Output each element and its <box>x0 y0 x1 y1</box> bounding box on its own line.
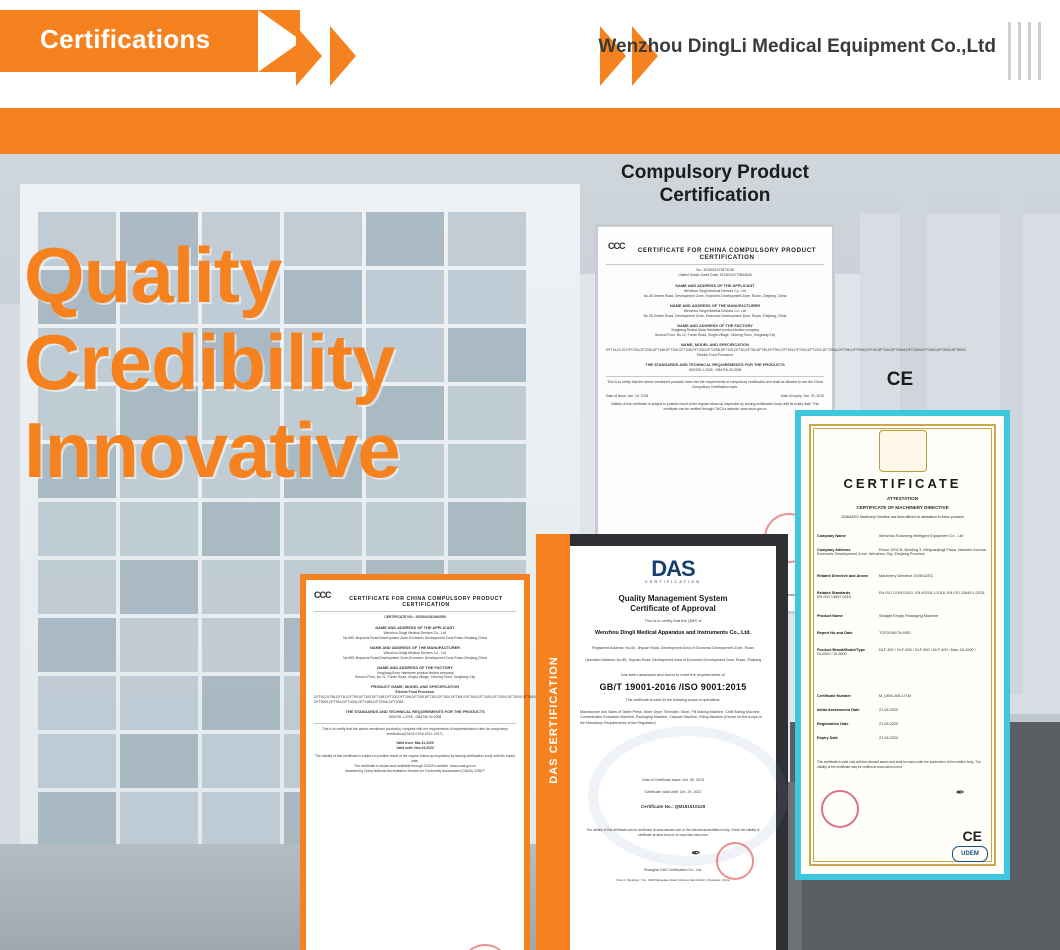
ce-mark-icon: CE <box>963 828 982 844</box>
valid-until-3c: Valid until: Nov.24,2022 <box>314 746 516 751</box>
headline: Quality Credibility Innovative <box>24 232 544 494</box>
watermark-decoration <box>588 726 788 866</box>
page-header: Certifications Wenzhou DingLi Medical Eq… <box>0 0 1060 110</box>
ce-row-directive: Related Directive and AnnexMachinery Dir… <box>817 574 988 578</box>
udem-logo-icon: UDEM <box>952 846 988 862</box>
heading-product-3c: PRODUCT NAME, MODEL AND SPECIFICATION <box>371 684 459 689</box>
content-stage: Quality Credibility Innovative Compulsor… <box>0 154 1060 950</box>
ce-row-initial-assessment: Initial Assessment Date21.06.2020 <box>817 708 988 712</box>
caption-line-1: Compulsory Product <box>560 162 870 185</box>
ce-footnote: This certificate is valid only with the … <box>817 760 988 770</box>
das-address-1: Registered Address: No.85, Jinyuan Road,… <box>580 646 766 651</box>
ce-row-company-address: Company AddressRoom 1002-B, Building 3, … <box>817 548 988 556</box>
certificate-title-3c: CERTIFICATE FOR CHINA COMPULSORY PRODUCT… <box>314 596 516 608</box>
das-spine-label: DAS CERTIFICATION <box>548 650 560 790</box>
header-orange-bar <box>0 108 1060 154</box>
heading-manufacturer-3c: NAME AND ADDRESS OF THE MANUFACTURER <box>370 645 460 650</box>
das-title-line-1: Quality Management System <box>570 594 776 604</box>
heading-applicant-3c: NAME AND ADDRESS OF THE APPLICANT <box>375 625 454 630</box>
ce-crest-icon <box>879 430 927 472</box>
ccc-mark-icon-3c: CCC <box>314 590 340 606</box>
product-name: Electric Food Processor <box>606 353 824 358</box>
heading-factory: NAME AND ADDRESS OF THE FACTORY <box>677 323 753 328</box>
header-bars-icon <box>1006 22 1050 80</box>
das-subtitle: This is to certify that the QMS of <box>570 618 776 623</box>
product-models-3c: DFT50,DLT56,DFT60,DFT99,DFT100,DFT168,DF… <box>314 695 516 705</box>
expiry-date: Date of expiry: Jan. 20, 2019 <box>781 394 824 399</box>
das-scope-intro: This certificate is valid for the follow… <box>580 698 766 703</box>
ce-row-model: Product Brand/Model/TypeDLF-300 / DLF-40… <box>817 648 988 656</box>
caption-ce: CE <box>830 369 970 392</box>
header-slash-2 <box>330 26 356 86</box>
social-credit-code: Unified Social Credit Code: 913301107738… <box>606 273 824 278</box>
accreditation-note-3c: Awarded by China National Accreditation … <box>314 769 516 774</box>
certificate-title: CERTIFICATE FOR CHINA COMPULSORY PRODUCT… <box>606 247 824 261</box>
caption-compulsory-product-certification: Compulsory Product Certification <box>560 162 870 208</box>
heading-standards-3c: THE STANDARDS AND TECHNICAL REQUIREMENTS… <box>345 709 484 714</box>
ce-row-company-name: Company NameWenzhou Ruisheng Intelligent… <box>817 534 988 538</box>
caption-line-2: Certification <box>560 185 870 208</box>
certificate-card-ce[interactable]: CERTIFICATE ATTESTATION CERTIFICATE OF M… <box>795 410 1010 880</box>
ce-signature: ✒ <box>955 786 964 799</box>
certificate-number-3c: CERTIFICATE NO.: 2020041012062559 <box>314 615 516 620</box>
red-seal-icon-3c <box>460 944 510 950</box>
ccc-mark-icon: CCC <box>608 241 634 257</box>
das-document: DAS CERTIFICATION Quality Management Sys… <box>570 546 776 950</box>
das-scope: Manufacture and Sales of Tablet Press, M… <box>580 710 766 726</box>
ce-row-expiry-date: Expiry Date21.06.2024 <box>817 736 988 740</box>
headline-line-2: Credibility <box>24 319 544 406</box>
headline-line-1: Quality <box>24 232 544 319</box>
certificate-card-3c[interactable]: CCC CERTIFICATE FOR CHINA COMPULSORY PRO… <box>300 574 530 950</box>
statement: This is to certify that the above mentio… <box>606 380 824 390</box>
ce-row-product-name: Product NameStraight Empty Packaging Mac… <box>817 614 988 618</box>
heading-standards: THE STANDARDS AND TECHNICAL REQUIREMENTS… <box>645 362 784 367</box>
certificate-card-iso[interactable]: DAS CERTIFICATION DAS CERTIFICATION Qual… <box>536 534 788 950</box>
ce-row-standards: Related StandardsEN ISO 12100:2010, EN 6… <box>817 591 988 599</box>
das-title: Quality Management System Certificate of… <box>570 594 776 614</box>
standards-3c: GB4706.1-2005 ; GB4706.30-2008 <box>314 715 516 720</box>
das-certificate-number: Certificate No.: QM181910129 <box>580 804 766 811</box>
ce-row-certificate-number: Certificate NumberM_DEM-206-171M <box>817 694 988 698</box>
headline-line-3: Innovative <box>24 407 544 494</box>
standards: GB4706.1-2005 , GB4706.30-2008 <box>606 368 824 373</box>
statement-3c: This is to certify that the above-mentio… <box>314 727 516 737</box>
das-title-line-2: Certificate of Approval <box>570 604 776 614</box>
validity-note: Validity of this certificate is subject … <box>606 402 824 412</box>
das-signature: ✒ <box>690 846 700 860</box>
ce-subtitle-note: 2006/42/EC Machinery Directive has been … <box>801 515 1004 520</box>
das-footnote: The validity of this certificate can be … <box>580 828 766 838</box>
header-slash-1 <box>296 26 322 86</box>
das-spine: DAS CERTIFICATION <box>536 534 570 950</box>
das-red-seal-icon <box>716 842 754 880</box>
ce-row-report-no: Report No and DateTCF2006179-MSD <box>817 631 988 635</box>
manufacturer-address: No.35 Jinwen Road, Development Zone, Eco… <box>606 314 824 319</box>
factory-address: Second Floor, No.12, Fumin Road, Xingfu … <box>606 333 824 338</box>
heading-product: NAME, MODEL AND SPECIFICATION <box>681 342 749 347</box>
certificate-document-3c: CCC CERTIFICATE FOR CHINA COMPULSORY PRO… <box>306 580 524 950</box>
ce-row-registration-date: Registration Date21.06.2020 <box>817 722 988 726</box>
ce-subtitle-directive: CERTIFICATE OF MACHINERY DIRECTIVE <box>801 505 1004 510</box>
das-logo-subtitle: CERTIFICATION <box>645 579 701 584</box>
ce-subtitle-attestation: ATTESTATION <box>801 496 1004 501</box>
das-company: Wenzhou Dingli Medical Apparatus and Ins… <box>570 630 776 636</box>
das-standard: GB/T 19001-2016 /ISO 9001:2015 <box>570 682 776 692</box>
das-date-valid: Certificate Valid Until: Oct. 29, 2022 <box>580 790 766 795</box>
manufacturer-address-3c: No.655 Jinqiaomi Road,Development Zone,E… <box>314 656 516 661</box>
company-name: Wenzhou DingLi Medical Equipment Co.,Ltd <box>598 36 996 58</box>
heading-manufacturer: NAME AND ADDRESS OF THE MANUFACTURER <box>670 303 760 308</box>
header-tab-label: Certifications <box>40 24 210 55</box>
das-assessed-note: has been assessed and found to meet the … <box>580 672 766 678</box>
issue-date: Date of issue: Jan. 10, 2018 <box>606 394 648 399</box>
ce-title: CERTIFICATE <box>801 476 1004 491</box>
ce-red-seal-icon <box>821 790 859 828</box>
heading-factory-3c: NAME AND ADDRESS OF THE FACTORY <box>377 665 453 670</box>
applicant-address-3c: No.655 Jinqiaomi Road,Development Zone,E… <box>314 636 516 641</box>
validity-note-3c: The validity of this certificate is subj… <box>314 754 516 764</box>
factory-address-3c: Second Floor, No.12, Fumin Road, Xingfu … <box>314 675 516 680</box>
das-address-2: Operation Address: No.85, Jinyuan Road, … <box>580 658 766 663</box>
das-date-issue: Date of Certificate Issue: Oct. 30, 2019 <box>580 778 766 783</box>
applicant-address: No.35 Jinwen Road, Development Zone, Eco… <box>606 294 824 299</box>
heading-applicant: NAME AND ADDRESS OF THE APPLICANT <box>675 283 754 288</box>
